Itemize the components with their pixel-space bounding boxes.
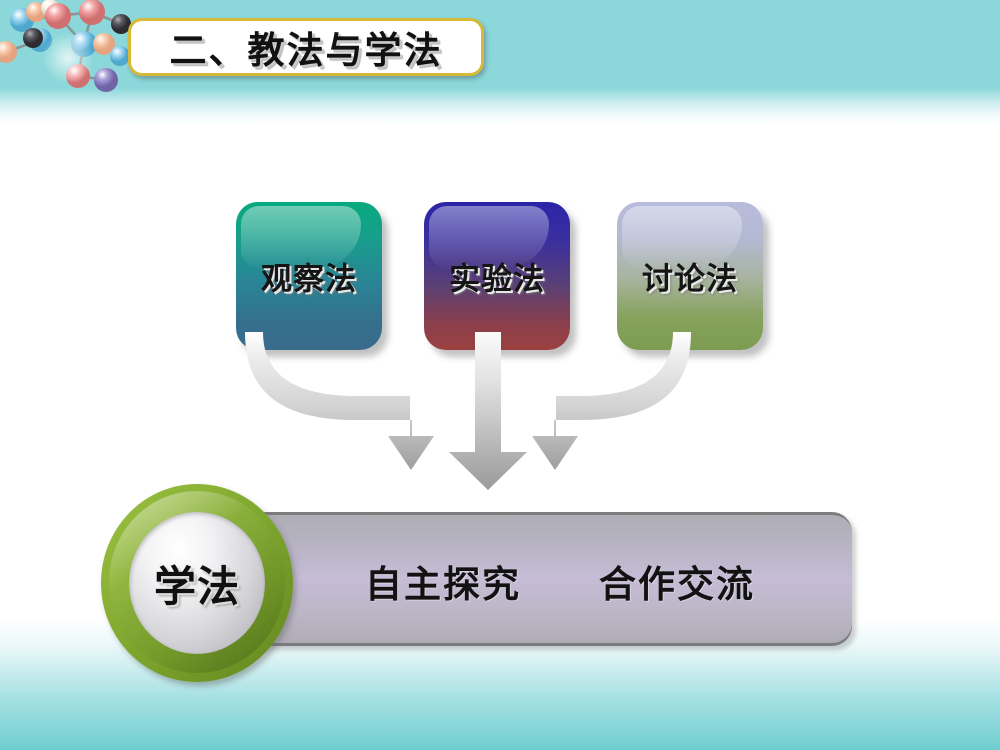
method-box-experiment[interactable]: 实验法	[424, 202, 570, 350]
method-label-observation: 观察法	[236, 254, 382, 299]
slide-title-plate: 二、教法与学法	[128, 18, 484, 76]
method-label-experiment: 实验法	[424, 254, 570, 299]
flow-arrows-group	[0, 330, 1000, 510]
outcome-bar-text: 自主探究 合作交流	[365, 554, 755, 608]
slide-canvas: 二、教法与学法 观察法 实验法 讨论法	[0, 0, 1000, 750]
method-box-discussion[interactable]: 讨论法	[617, 202, 763, 350]
method-label-discussion: 讨论法	[617, 254, 763, 299]
page-title: 二、教法与学法	[170, 20, 443, 74]
down-arrow-icon-right	[532, 332, 691, 470]
down-arrow-icon-left	[245, 332, 434, 470]
method-box-observation[interactable]: 观察法	[236, 202, 382, 350]
badge-inner-disc: 学法	[129, 512, 265, 654]
outcome-bar: 自主探究 合作交流	[195, 512, 852, 646]
badge-label: 学法	[154, 553, 240, 614]
learning-method-badge[interactable]: 学法	[101, 484, 293, 682]
down-arrow-icon-middle	[449, 332, 527, 490]
